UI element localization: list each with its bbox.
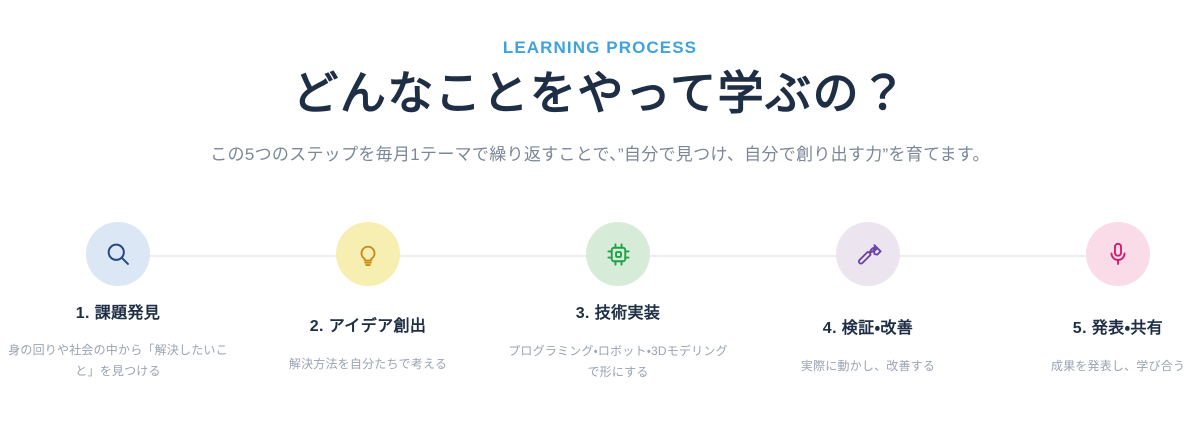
step-1-icon-bubble	[86, 222, 150, 286]
step-5-description: 成果を発表し、学び合う	[998, 356, 1200, 377]
process-step-1[interactable]: 1. 課題発見 身の回りや社会の中から「解決したいこと」を見つける	[0, 206, 238, 382]
section-subtitle: この5つのステップを毎月1テーマで繰り返すことで、”自分で見つけ、自分で創り出す…	[0, 142, 1200, 168]
microphone-icon	[1105, 241, 1131, 267]
process-step-3[interactable]: 3. 技術実装 プログラミング・ロボット・3Dモデリングで形にする	[498, 206, 738, 383]
step-3-icon-bubble	[586, 222, 650, 286]
step-1-description: 身の回りや社会の中から「解決したいこと」を見つける	[0, 340, 238, 382]
step-5-title: 5. 発表・共有	[998, 318, 1200, 340]
process-step-5[interactable]: 5. 発表・共有 成果を発表し、学び合う	[998, 206, 1200, 377]
lightbulb-icon	[355, 241, 381, 267]
step-4-icon-bubble	[836, 222, 900, 286]
process-steps: 1. 課題発見 身の回りや社会の中から「解決したいこと」を見つける 2. アイデ…	[0, 206, 1200, 427]
process-step-2[interactable]: 2. アイデア創出 解決方法を自分たちで考える	[248, 206, 488, 375]
step-5-icon-bubble	[1086, 222, 1150, 286]
process-step-4[interactable]: 4. 検証・改善 実際に動かし、改善する	[748, 206, 988, 377]
step-4-description: 実際に動かし、改善する	[748, 356, 988, 377]
step-2-title: 2. アイデア創出	[248, 316, 488, 338]
step-1-title: 1. 課題発見	[0, 303, 238, 325]
step-3-title: 3. 技術実装	[498, 303, 738, 325]
section-eyebrow: LEARNING PROCESS	[0, 38, 1200, 58]
step-2-description: 解決方法を自分たちで考える	[248, 354, 488, 375]
cpu-chip-icon	[605, 241, 632, 268]
learning-process-section: LEARNING PROCESS どんなことをやって学ぶの？ この5つのステップ…	[0, 0, 1200, 427]
step-4-title: 4. 検証・改善	[748, 318, 988, 340]
search-icon	[104, 240, 132, 268]
step-2-icon-bubble	[336, 222, 400, 286]
page-title: どんなことをやって学ぶの？	[0, 62, 1200, 124]
step-3-description: プログラミング・ロボット・3Dモデリングで形にする	[498, 341, 738, 383]
wrench-icon	[855, 241, 882, 268]
